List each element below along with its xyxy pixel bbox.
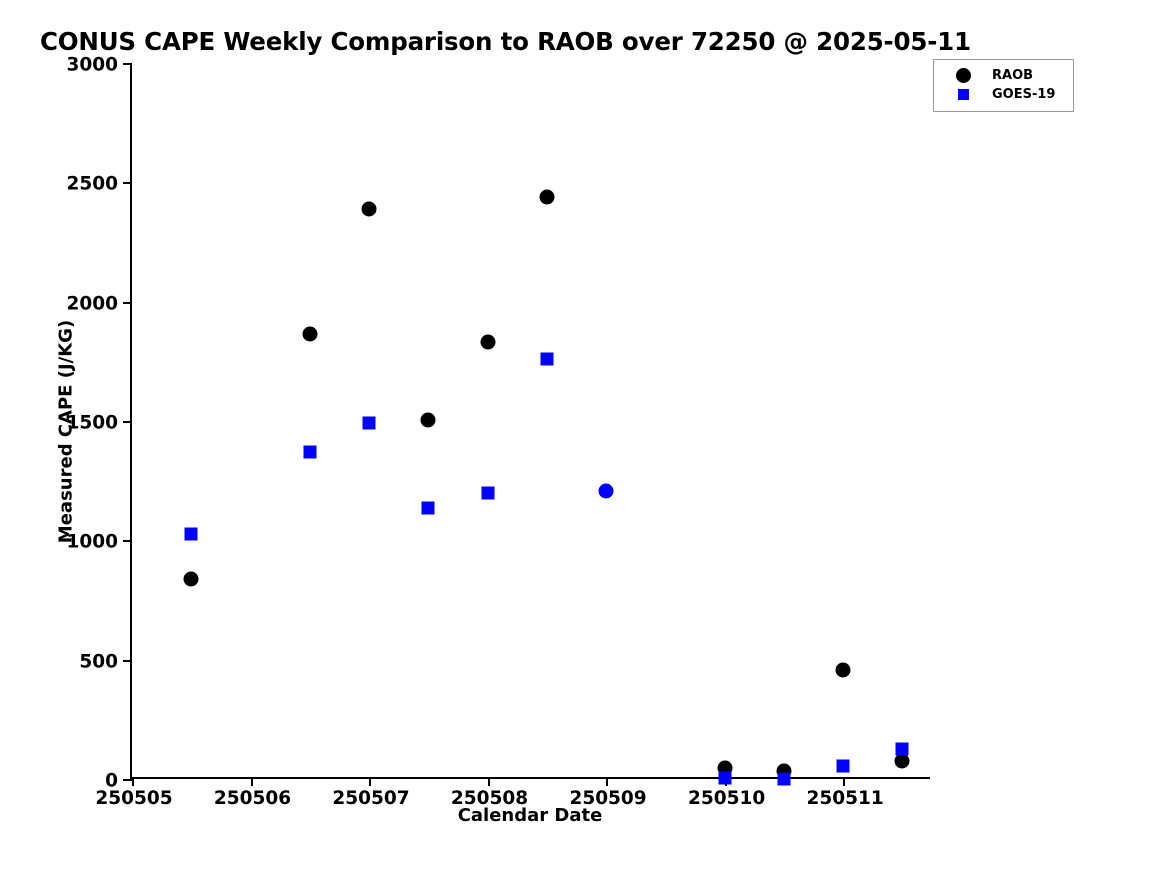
- data-point-raob: [895, 754, 910, 769]
- x-axis-tick: 250505: [132, 777, 134, 786]
- data-point-raob: [362, 201, 377, 216]
- y-axis-tick: 1500: [123, 421, 132, 423]
- legend-label: RAOB: [992, 68, 1033, 83]
- data-point-goes-19: [303, 446, 316, 459]
- y-axis-tick-label: 3000: [67, 55, 119, 76]
- data-point-raob: [302, 326, 317, 341]
- data-points-layer: [132, 63, 930, 777]
- data-point-raob: [539, 189, 554, 204]
- data-point-raob: [480, 335, 495, 350]
- data-point-raob: [717, 761, 732, 776]
- y-axis-tick: 1000: [123, 540, 132, 542]
- legend-square-icon: [934, 89, 992, 100]
- y-axis-tick-label: 500: [79, 651, 118, 672]
- legend-item-raob[interactable]: RAOB: [934, 66, 1073, 85]
- y-axis-tick: 0: [123, 779, 132, 781]
- legend-label: GOES-19: [992, 87, 1055, 102]
- data-point-goes-19: [896, 743, 909, 756]
- legend-item-goes-19[interactable]: GOES-19: [934, 85, 1073, 104]
- y-axis-tick: 2000: [123, 302, 132, 304]
- data-point-goes-19: [599, 484, 614, 499]
- data-point-goes-19: [422, 502, 435, 515]
- y-axis-label: Measured CAPE (J/KG): [56, 74, 77, 790]
- x-axis-tick: 250510: [725, 777, 727, 786]
- page-title: CONUS CAPE Weekly Comparison to RAOB ove…: [40, 27, 1040, 56]
- x-axis-tick: 250511: [843, 777, 845, 786]
- data-point-raob: [421, 412, 436, 427]
- chart-figure: CONUS CAPE Weekly Comparison to RAOB ove…: [0, 0, 1167, 875]
- data-point-goes-19: [540, 352, 553, 365]
- plot-area: 050010001500200025003000 250505250506250…: [130, 63, 930, 779]
- chart-legend: RAOBGOES-19: [933, 59, 1074, 112]
- data-point-raob: [184, 571, 199, 586]
- data-point-goes-19: [837, 759, 850, 772]
- x-axis-tick: 250507: [369, 777, 371, 786]
- x-axis-tick: 250508: [488, 777, 490, 786]
- legend-circle-icon: [934, 68, 992, 83]
- data-point-goes-19: [777, 773, 790, 786]
- x-axis-label: Calendar Date: [130, 805, 930, 826]
- data-point-goes-19: [481, 486, 494, 499]
- data-point-goes-19: [185, 528, 198, 541]
- x-axis-tick: 250509: [606, 777, 608, 786]
- data-point-raob: [776, 763, 791, 778]
- data-point-goes-19: [363, 417, 376, 430]
- x-axis-tick: 250506: [251, 777, 253, 786]
- y-axis-tick: 2500: [123, 182, 132, 184]
- y-axis-tick: 3000: [123, 63, 132, 65]
- data-point-raob: [836, 663, 851, 678]
- y-axis-tick: 500: [123, 660, 132, 662]
